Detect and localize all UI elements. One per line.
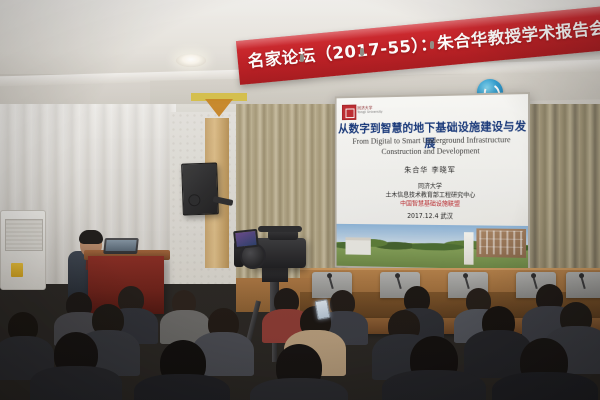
ac-badge (11, 263, 23, 277)
audience-shoulders (250, 378, 348, 400)
tongji-logo-text: 同济大学 Tongji University (357, 105, 382, 115)
presentation-slide: 同济大学 Tongji University 从数字到智慧的地下基础设施建设与发… (337, 94, 528, 270)
camera-handle (258, 226, 302, 232)
photo-campus-gate (346, 237, 372, 255)
slide-authors: 朱合华 李晓军 (337, 164, 528, 175)
tongji-seal-icon: 同济大学 Tongji University (342, 104, 395, 119)
presenter-hair (79, 230, 103, 244)
ac-grill (5, 219, 43, 251)
banner-hook (430, 41, 434, 49)
campus-photo-fountain (412, 225, 528, 270)
audience-shoulders (30, 366, 122, 400)
air-conditioner-unit (0, 210, 46, 290)
pennant-icon (205, 99, 233, 117)
projection-screen-frame: 同济大学 Tongji University 从数字到智慧的地下基础设施建设与发… (335, 92, 530, 272)
lecture-hall-photo: 名家论坛（2017-55）：朱合华教授学术报告会 同济大学 Tongji Uni… (0, 0, 600, 400)
slide-title-english-line2: Construction and Development (346, 145, 519, 157)
audience-shoulders (492, 372, 598, 400)
slide-title-english-line1: From Digital to Smart Underground Infras… (346, 134, 519, 147)
tongji-seal-mark (342, 105, 356, 121)
tongji-logo-en: Tongji University (357, 110, 382, 115)
tripod-head (262, 266, 288, 282)
projection-screen: 同济大学 Tongji University 从数字到智慧的地下基础设施建设与发… (337, 94, 528, 270)
wall-speaker (181, 162, 219, 215)
camera-lcd-screen (233, 229, 259, 249)
affiliation-line-3: 中国智慧基础设施联盟 (337, 199, 528, 209)
audience-shoulders (382, 370, 486, 400)
audience-shoulders (134, 374, 230, 400)
photo-fountain (463, 232, 473, 265)
banner-hook (360, 48, 364, 56)
olive-curtain-right (520, 104, 600, 294)
photo-building (476, 228, 525, 258)
slide-affiliation: 同济大学 土木信息技术教育部工程研究中心 中国智慧基础设施联盟 (337, 182, 528, 209)
slide-title-english: From Digital to Smart Underground Infras… (346, 134, 519, 157)
banner-hook (300, 54, 304, 62)
ceiling-downlight (176, 54, 206, 67)
lectern-laptop (103, 238, 139, 254)
campus-photo-gate (337, 224, 413, 268)
slide-date-location: 2017.12.4 武汉 (337, 210, 528, 221)
slide-campus-photo (337, 224, 528, 270)
